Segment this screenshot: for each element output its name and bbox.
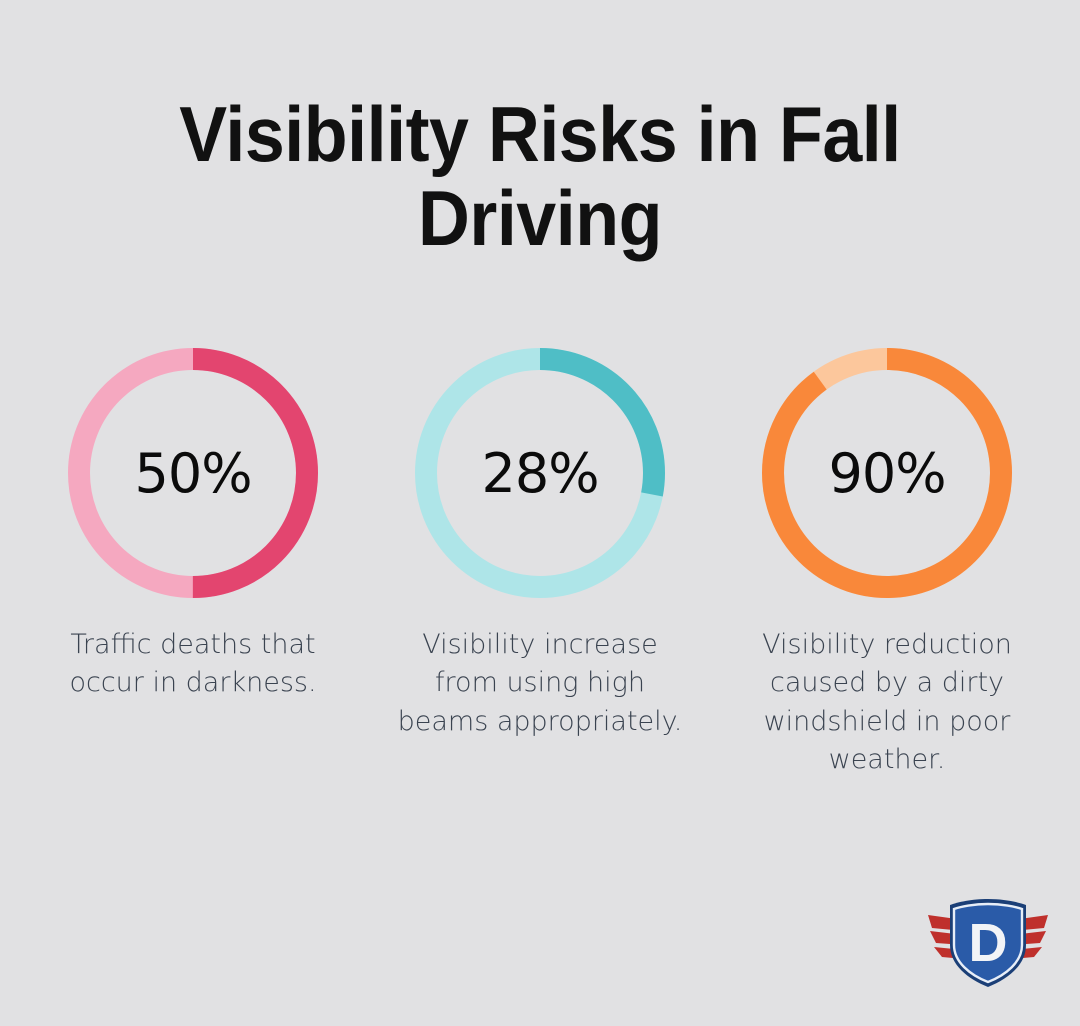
logo-letter: D [969, 913, 1008, 973]
stat-caption-3: Visibility reduction caused by a dirty w… [742, 626, 1032, 779]
shield-wings-logo-icon: D [920, 893, 1056, 993]
donut-value-3: 90% [762, 348, 1012, 598]
stat-card-2: 28% Visibility increase from using high … [387, 348, 693, 741]
brand-logo: D [920, 893, 1056, 993]
stat-caption-1: Traffic deaths that occur in darkness. [48, 626, 338, 703]
donut-chart-2: 28% [415, 348, 665, 598]
page-title: Visibility Risks in Fall Driving [126, 92, 954, 260]
stat-card-3: 90% Visibility reduction caused by a dir… [734, 348, 1040, 779]
stat-caption-2: Visibility increase from using high beam… [395, 626, 685, 741]
donut-chart-3: 90% [762, 348, 1012, 598]
infographic-canvas: Visibility Risks in Fall Driving 50% Tra… [0, 0, 1080, 1026]
donut-value-1: 50% [68, 348, 318, 598]
stat-card-1: 50% Traffic deaths that occur in darknes… [40, 348, 346, 703]
donut-chart-1: 50% [68, 348, 318, 598]
stats-row: 50% Traffic deaths that occur in darknes… [0, 348, 1080, 779]
donut-value-2: 28% [415, 348, 665, 598]
